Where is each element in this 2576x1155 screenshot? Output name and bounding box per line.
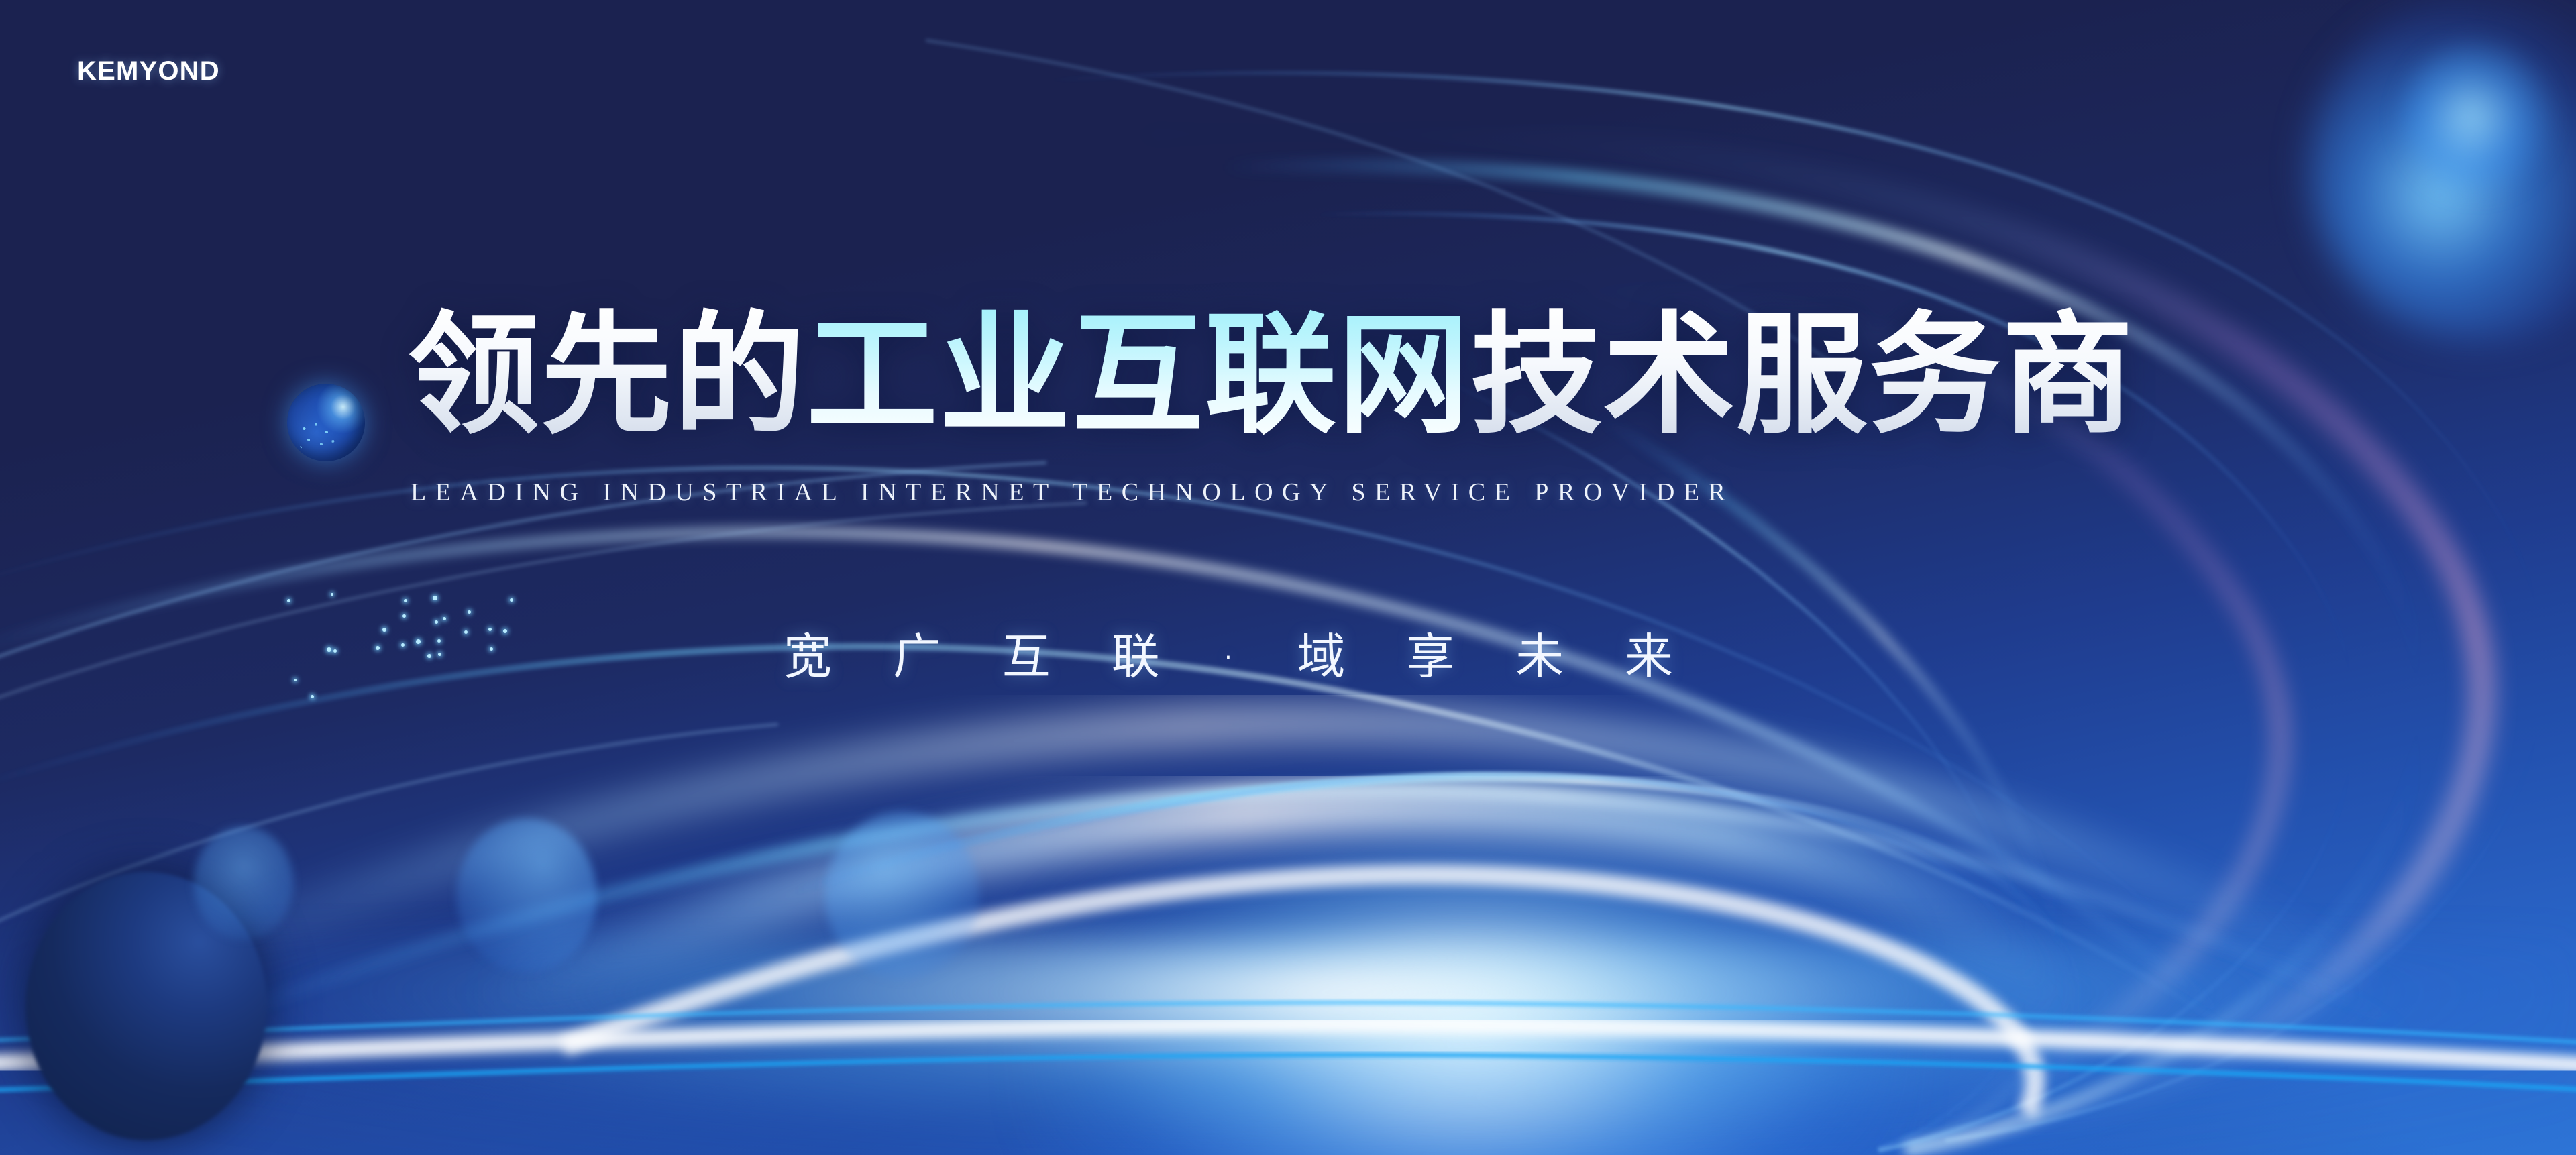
banner-canvas: KEMYOND 领先的工业互联网技术服务商 LEADING INDUSTRIAL… [0, 0, 2576, 1155]
page-tagline: 宽 广 互 联 · 域 享 未 来 [784, 617, 1696, 687]
sparkle-dot [490, 647, 493, 651]
sparkle-dot [503, 629, 507, 633]
sparkle-dot [488, 628, 492, 631]
sparkle-dot [402, 614, 406, 618]
sparkle-dot [438, 653, 441, 656]
sparkle-particle-layer [0, 0, 2576, 1155]
page-subtitle: LEADING INDUSTRIAL INTERNET TECHNOLOGY S… [411, 478, 1734, 507]
page-title: 领先的工业互联网技术服务商 [408, 310, 2135, 441]
sparkle-dot [510, 598, 513, 602]
sparkle-dot [437, 639, 441, 643]
sparkle-dot [435, 620, 438, 624]
sparkle-dot [311, 695, 314, 698]
sparkle-dot [433, 596, 437, 600]
headline-segment-industrial-internet: 工业互联网 [806, 299, 1470, 452]
sparkle-dot [401, 643, 405, 647]
sparkle-dot [427, 654, 431, 658]
sparkle-dot [464, 630, 468, 634]
sparkle-dot [468, 610, 471, 614]
headline-segment-tech-service: 技术服务商 [1470, 299, 2135, 452]
sparkle-dot [404, 599, 407, 602]
sparkle-dot [331, 593, 333, 596]
sparkle-dot [416, 639, 421, 644]
sparkle-dot [333, 649, 337, 653]
headline-segment-leading: 领先的 [408, 299, 806, 452]
brand-logo[interactable]: KEMYOND [77, 56, 220, 87]
sparkle-dot [287, 599, 290, 602]
sparkle-dot [294, 679, 297, 681]
sparkle-dot [382, 628, 386, 632]
sparkle-dot [443, 617, 446, 620]
sparkle-dot [327, 647, 331, 652]
sparkle-dot [376, 646, 380, 650]
